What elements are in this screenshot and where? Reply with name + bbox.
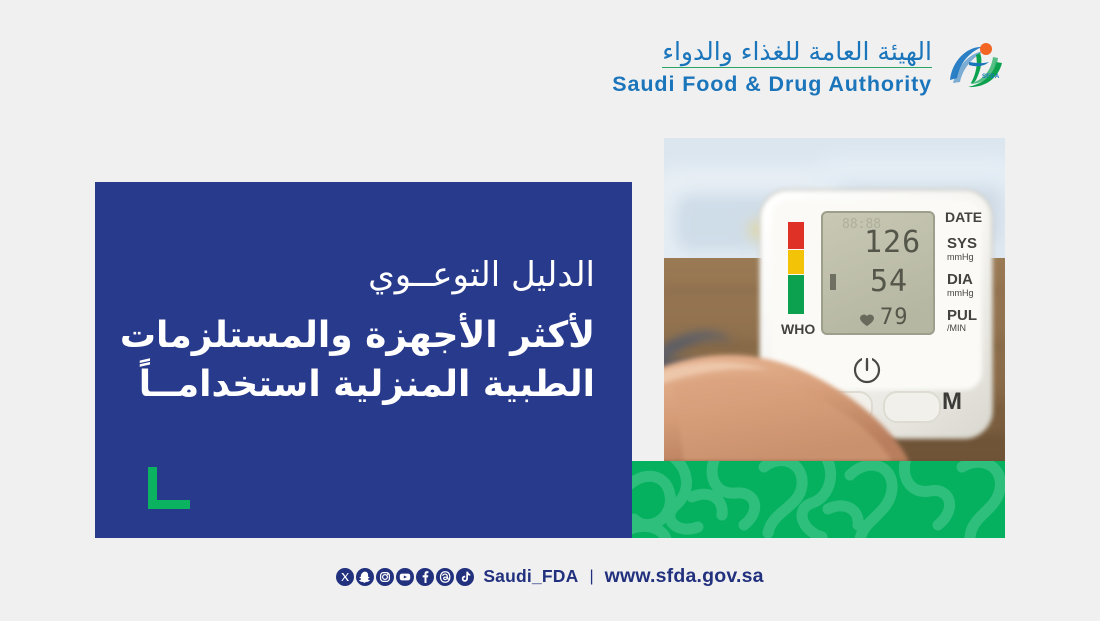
- instagram-icon[interactable]: [376, 568, 394, 586]
- svg-text:DATE: DATE: [945, 209, 982, 225]
- social-handle: Saudi_FDA: [483, 566, 578, 587]
- svg-text:DIA: DIA: [947, 271, 973, 288]
- svg-text:mmHg: mmHg: [947, 252, 974, 262]
- website-url[interactable]: www.sfda.gov.sa: [605, 565, 764, 588]
- svg-text:PUL: PUL: [947, 307, 977, 324]
- x-twitter-icon[interactable]: [336, 568, 354, 586]
- snapchat-icon[interactable]: [356, 568, 374, 586]
- sfda-logo: الهيئة العامة للغذاء والدواء Saudi Food …: [612, 36, 1008, 98]
- sfda-logo-mark-icon: SFDA: [946, 36, 1008, 98]
- svg-text:SYS: SYS: [947, 235, 977, 252]
- headline-line-2: لأكثر الأجهزة والمستلزمات: [155, 311, 595, 361]
- svg-text:M: M: [942, 388, 962, 415]
- corner-bracket-accent-icon: [148, 467, 190, 509]
- svg-text:WHO: WHO: [781, 321, 815, 337]
- facebook-icon[interactable]: [416, 568, 434, 586]
- svg-text:79: 79: [880, 305, 909, 330]
- svg-text:SFDA: SFDA: [982, 74, 1000, 80]
- headline-line-3: الطبية المنزلية استخدامــاً: [155, 360, 595, 410]
- headline-block: الدليل التوعــوي لأكثر الأجهزة والمستلزم…: [155, 254, 595, 410]
- green-pattern-band: [632, 461, 1005, 538]
- footer-bar: Saudi_FDA | www.sfda.gov.sa: [0, 565, 1100, 588]
- social-links: [336, 568, 474, 586]
- youtube-icon[interactable]: [396, 568, 414, 586]
- svg-text:126: 126: [864, 225, 921, 260]
- logo-text-block: الهيئة العامة للغذاء والدواء Saudi Food …: [612, 39, 932, 96]
- threads-icon[interactable]: [436, 568, 454, 586]
- blood-pressure-monitor-photo: WHO 88:88 126 54 79 DATE SYS mmHg DIA: [664, 138, 1005, 462]
- svg-text:mmHg: mmHg: [947, 288, 974, 298]
- tiktok-icon[interactable]: [456, 568, 474, 586]
- svg-text:/MIN: /MIN: [947, 323, 966, 333]
- svg-text:54: 54: [870, 264, 908, 299]
- logo-english-name: Saudi Food & Drug Authority: [612, 74, 932, 96]
- headline-line-1: الدليل التوعــوي: [155, 254, 595, 297]
- headline-panel: الدليل التوعــوي لأكثر الأجهزة والمستلزم…: [95, 182, 632, 538]
- poster-canvas: الهيئة العامة للغذاء والدواء Saudi Food …: [0, 0, 1100, 621]
- logo-arabic-name: الهيئة العامة للغذاء والدواء: [662, 39, 932, 68]
- footer-separator: |: [587, 568, 595, 586]
